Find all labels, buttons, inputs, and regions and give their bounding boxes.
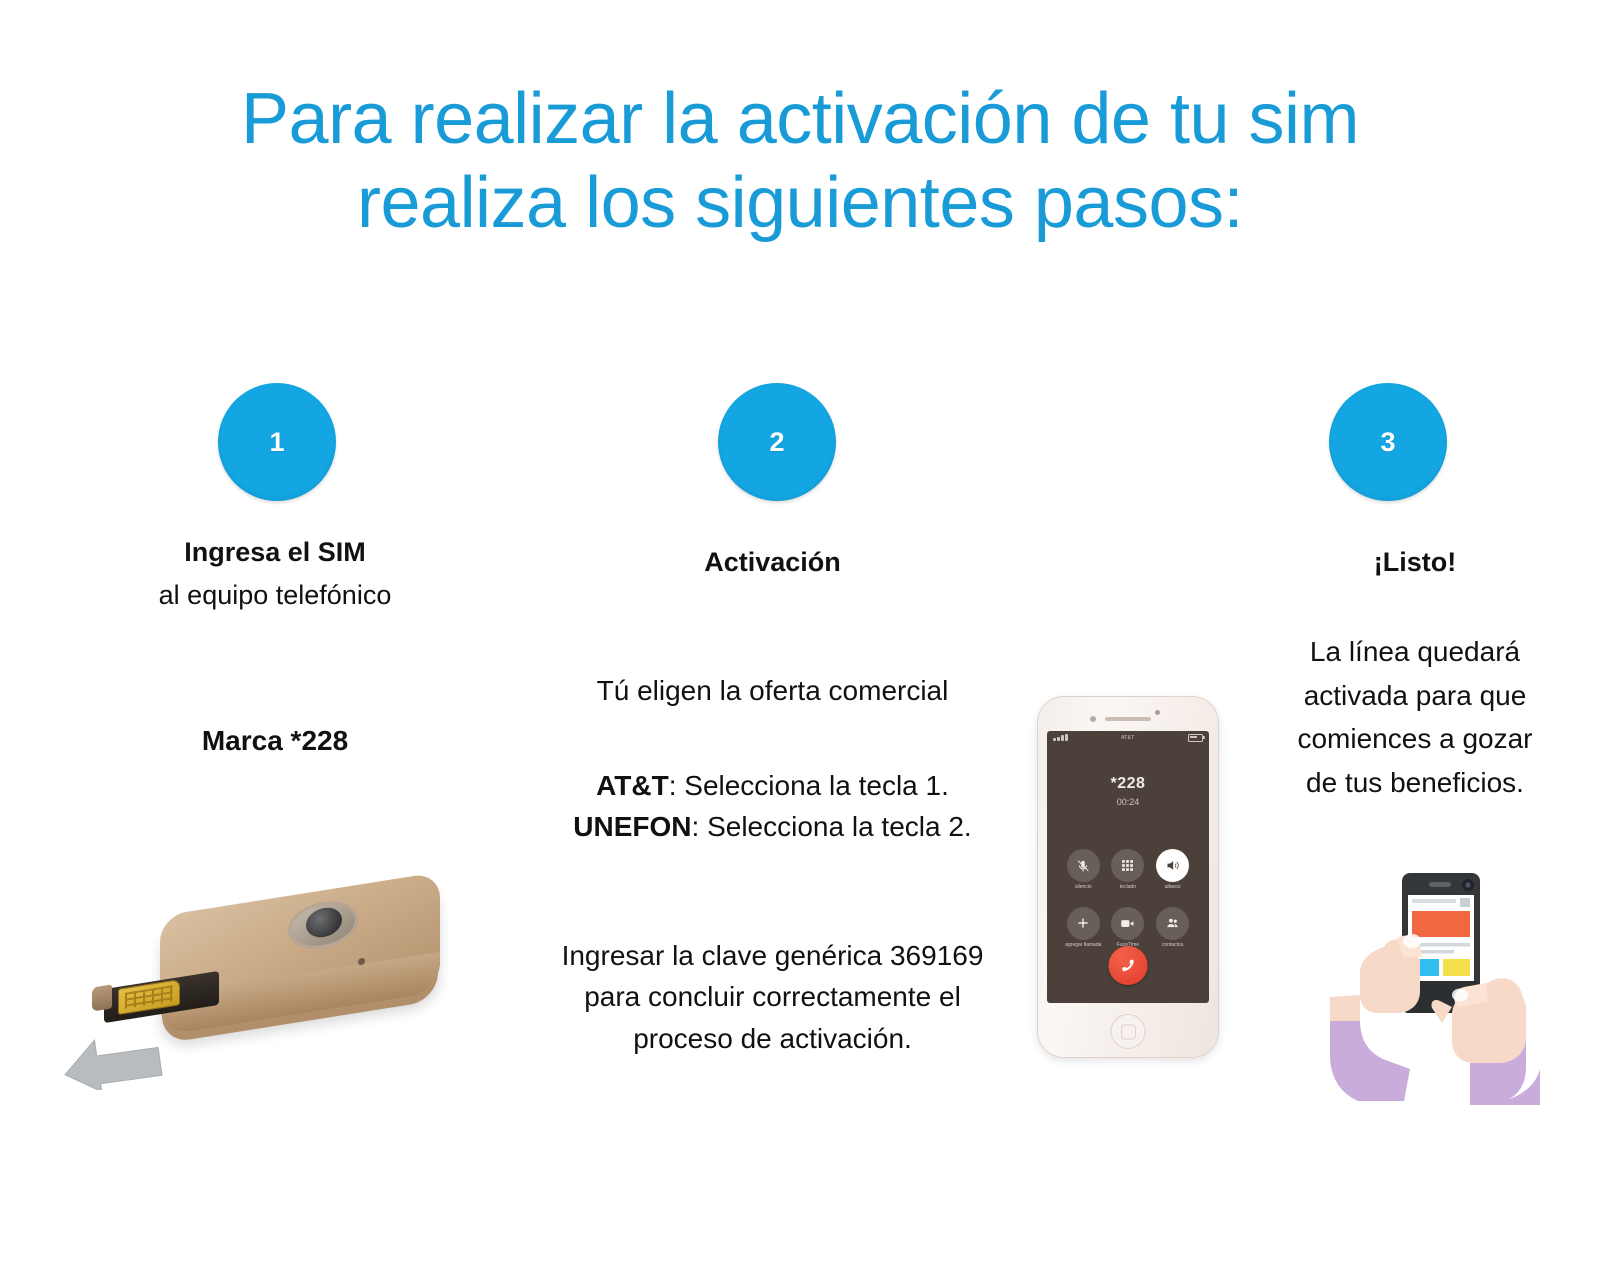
speaker-label: altavoz: [1165, 885, 1181, 891]
add-call-icon: [1067, 907, 1100, 940]
step-1-badge: 1: [218, 383, 336, 501]
dialed-number: *228: [1047, 775, 1209, 793]
steps-container: 1 Ingresa el SIM al equipo telefónico Ma…: [0, 375, 1600, 1280]
iphone-call-illustration: AT&T *228 00:24: [1038, 697, 1218, 1057]
step-3-title: ¡Listo!: [1240, 547, 1590, 578]
mute-label: silencio: [1075, 885, 1092, 891]
call-action-keypad[interactable]: teclado: [1106, 849, 1151, 891]
step-2-option-att: AT&T: Selecciona la tecla 1.: [500, 765, 1045, 806]
contacts-icon: [1156, 907, 1189, 940]
step-2-title: Activación: [500, 547, 1045, 578]
carrier-label: AT&T: [1121, 735, 1134, 741]
call-screen: AT&T *228 00:24: [1047, 731, 1209, 1003]
phone-sim-tray-illustration: [60, 870, 480, 1090]
earpiece-speaker: [1105, 717, 1151, 721]
step-3-body-line-3: comiences a gozar: [1240, 717, 1590, 761]
home-button[interactable]: [1111, 1014, 1146, 1049]
step-2-number: 2: [769, 429, 784, 456]
keypad-label: teclado: [1120, 885, 1136, 891]
page-title: Para realizar la activación de tu sim re…: [0, 78, 1600, 245]
brand-att: AT&T: [596, 770, 669, 801]
call-action-mute[interactable]: silencio: [1061, 849, 1106, 891]
step-1-column: 1 Ingresa el SIM al equipo telefónico Ma…: [40, 375, 500, 1280]
step-3-badge: 3: [1329, 383, 1447, 501]
hands-holding-phone-illustration: [1292, 855, 1582, 1105]
step-2-note: Ingresar la clave genérica 369169 para c…: [500, 935, 1045, 1059]
end-call-button[interactable]: [1109, 946, 1148, 985]
call-action-facetime[interactable]: FaceTime: [1106, 907, 1151, 949]
step-1-number: 1: [269, 429, 284, 456]
brand-unefon-instruction: : Selecciona la tecla 2.: [692, 811, 972, 842]
step-1-subtitle: al equipo telefónico: [40, 580, 510, 611]
brand-unefon: UNEFON: [573, 811, 691, 842]
battery-icon: [1188, 734, 1203, 742]
step-2-option-unefon: UNEFON: Selecciona la tecla 2.: [500, 806, 1045, 847]
step-3-body: La línea quedará activada para que comie…: [1240, 630, 1590, 805]
step-3-body-line-1: La línea quedará: [1240, 630, 1590, 674]
step-3-body-line-2: activada para que: [1240, 674, 1590, 718]
step-3-body-line-4: de tus beneficios.: [1240, 761, 1590, 805]
left-hand: [1330, 934, 1422, 1101]
call-action-contacts[interactable]: contactos: [1150, 907, 1195, 949]
signal-bars-icon: [1053, 734, 1068, 742]
brand-att-instruction: : Selecciona la tecla 1.: [669, 770, 949, 801]
step-1-action: Marca *228: [40, 725, 510, 757]
sim-tray-lip: [92, 984, 112, 1011]
call-actions-grid: silencio teclado: [1061, 849, 1195, 949]
facetime-icon: [1111, 907, 1144, 940]
proximity-sensor-icon: [1155, 710, 1160, 715]
speaker-icon: [1156, 849, 1189, 882]
step-2-options: AT&T: Selecciona la tecla 1. UNEFON: Sel…: [500, 765, 1045, 848]
step-2-note-line-1: Ingresar la clave genérica 369169: [500, 935, 1045, 976]
hangup-handset-icon: [1119, 957, 1137, 975]
step-2-column: 2 Activación Tú eligen la oferta comerci…: [500, 375, 1240, 1280]
keypad-icon: [1111, 849, 1144, 882]
status-bar: AT&T: [1047, 733, 1209, 742]
step-2-intro: Tú eligen la oferta comercial: [500, 675, 1045, 707]
front-camera-icon: [1090, 716, 1096, 722]
add-call-label: agregar llamada: [1065, 943, 1101, 949]
page-title-line-1: Para realizar la activación de tu sim: [0, 78, 1600, 162]
call-timer: 00:24: [1047, 797, 1209, 807]
step-3-number: 3: [1380, 429, 1395, 456]
step-2-note-line-2: para concluir correctamente el: [500, 976, 1045, 1017]
contacts-label: contactos: [1162, 943, 1183, 949]
call-action-add-call[interactable]: agregar llamada: [1061, 907, 1106, 949]
step-2-badge: 2: [718, 383, 836, 501]
mute-icon: [1067, 849, 1100, 882]
step-1-title: Ingresa el SIM: [40, 537, 510, 568]
call-action-speaker[interactable]: altavoz: [1150, 849, 1195, 891]
page-title-line-2: realiza los siguientes pasos:: [0, 162, 1600, 246]
step-3-column: 3 ¡Listo! La línea quedará activada para…: [1240, 375, 1590, 1280]
step-2-note-line-3: proceso de activación.: [500, 1018, 1045, 1059]
